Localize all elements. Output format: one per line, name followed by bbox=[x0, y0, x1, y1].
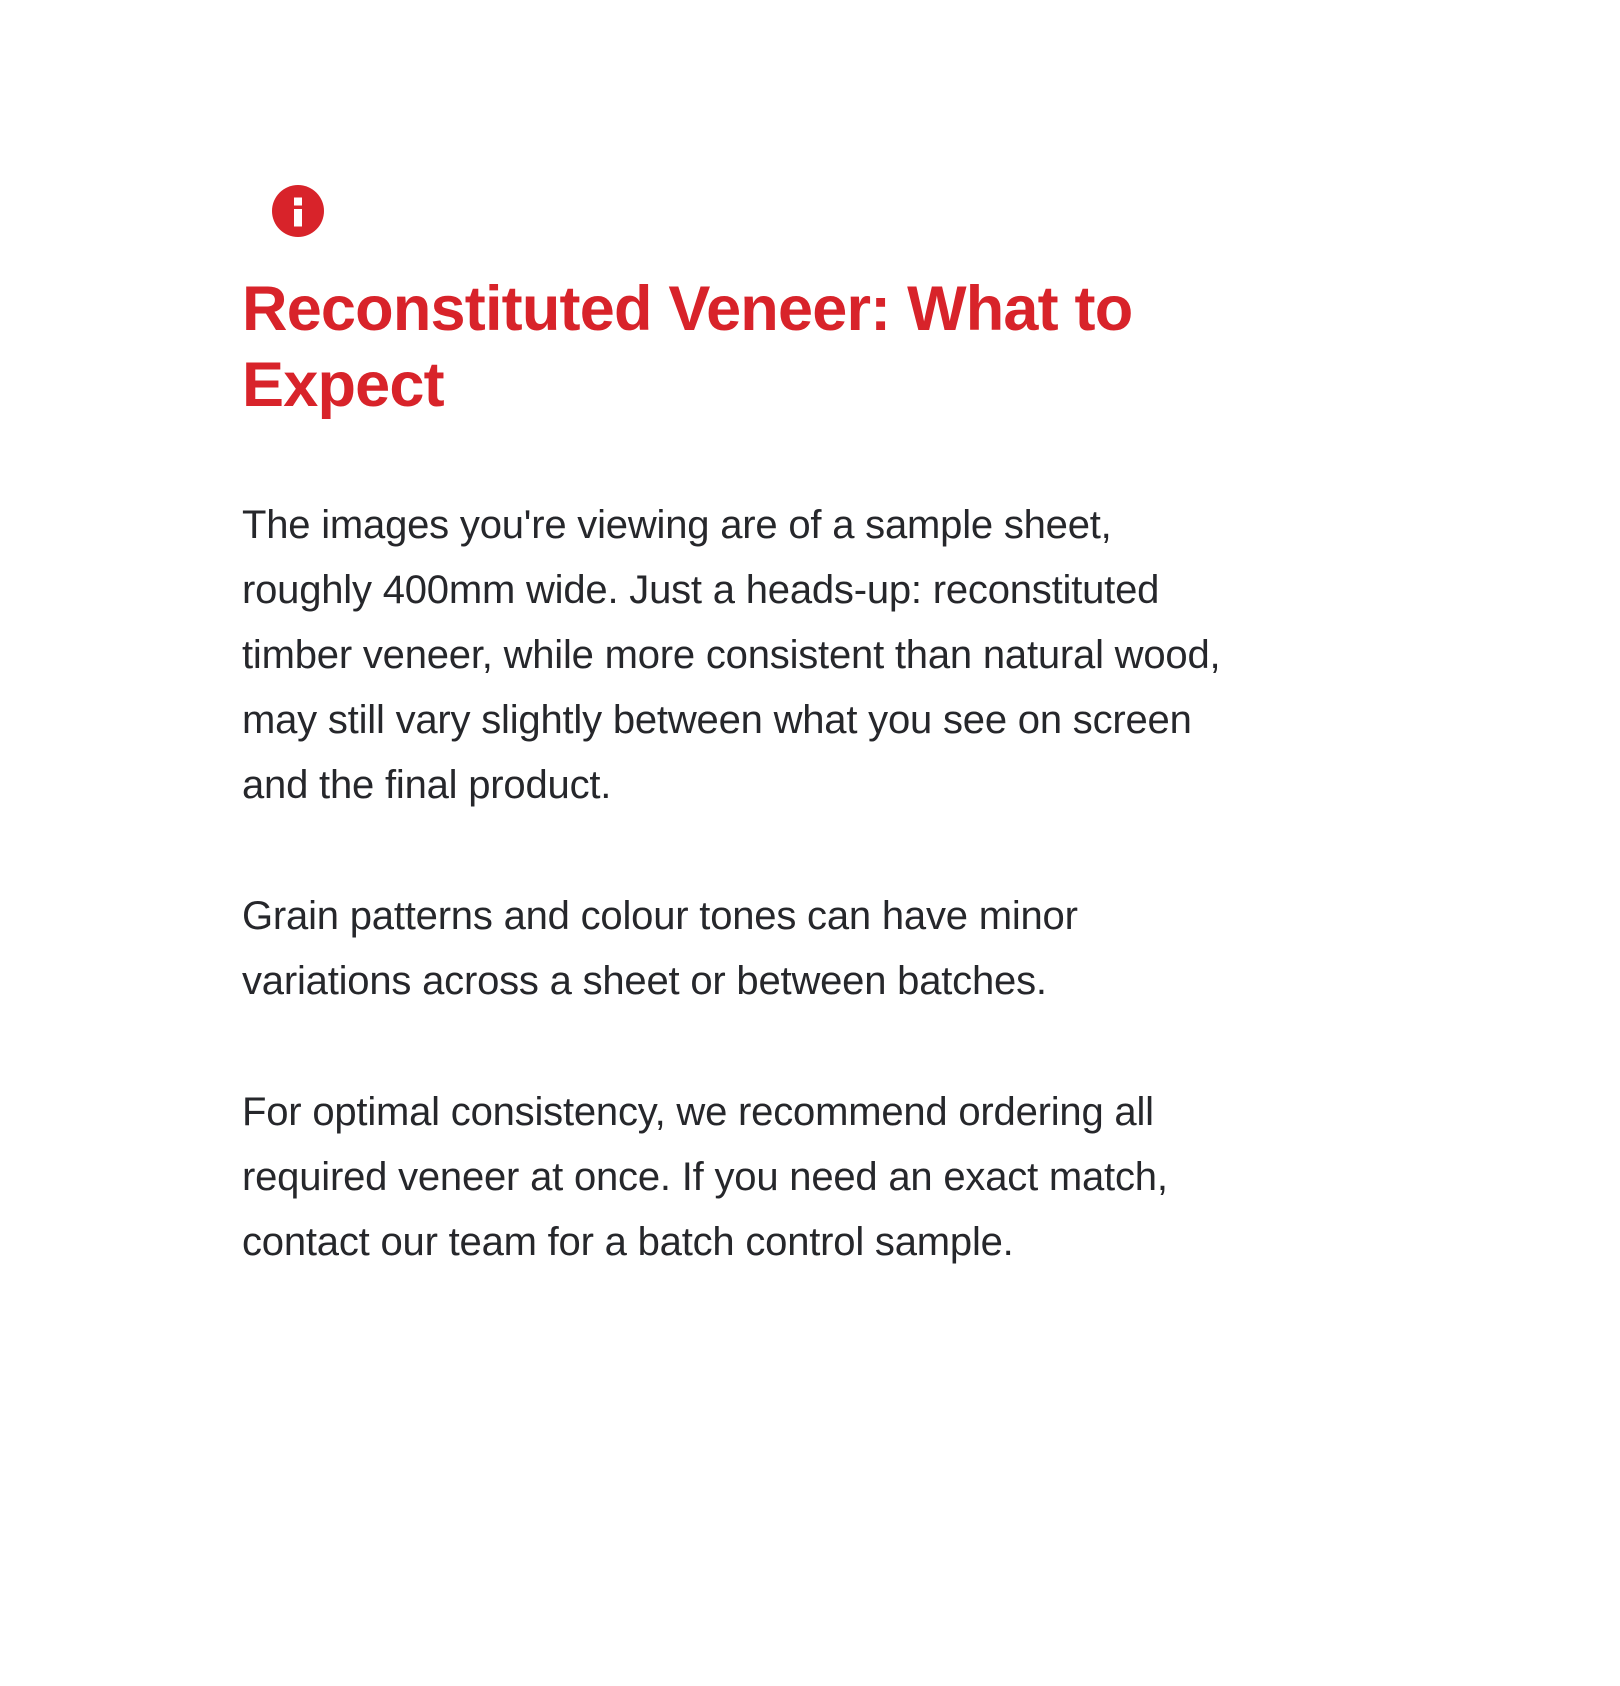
notice-paragraph: The images you're viewing are of a sampl… bbox=[242, 493, 1242, 818]
page-title: Reconstituted Veneer: What to Expect bbox=[242, 271, 1242, 423]
notice-block: Reconstituted Veneer: What to Expect The… bbox=[242, 160, 1252, 1275]
info-circle-icon bbox=[272, 185, 324, 237]
notice-body: The images you're viewing are of a sampl… bbox=[242, 493, 1252, 1275]
notice-paragraph: For optimal consistency, we recommend or… bbox=[242, 1080, 1242, 1275]
notice-page: Reconstituted Veneer: What to Expect The… bbox=[0, 0, 1620, 1686]
icon-row bbox=[242, 185, 1252, 263]
notice-paragraph: Grain patterns and colour tones can have… bbox=[242, 884, 1242, 1014]
